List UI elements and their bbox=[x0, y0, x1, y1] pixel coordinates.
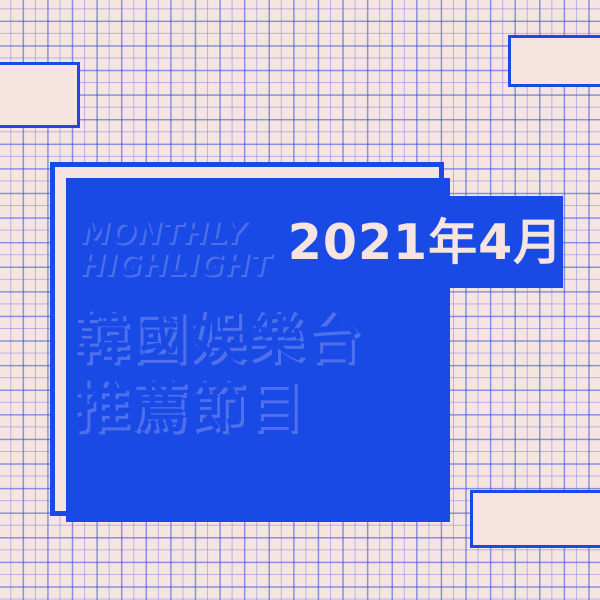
date-badge: 2021年4月 bbox=[288, 196, 563, 288]
decorative-rectangle-top-right bbox=[508, 35, 600, 87]
headline-line-1: 韓國娛樂台 bbox=[73, 304, 363, 373]
headline-line-2: 推薦節目 bbox=[73, 373, 363, 442]
date-badge-text: 2021年4月 bbox=[288, 218, 563, 267]
headline: 韓國娛樂台 推薦節目 bbox=[73, 304, 363, 443]
eyebrow-line-1: MONTHLY bbox=[80, 218, 271, 250]
eyebrow-line-2: HIGHLIGHT bbox=[80, 250, 271, 282]
decorative-rectangle-bottom-right bbox=[470, 490, 600, 548]
eyebrow-label: MONTHLY HIGHLIGHT bbox=[80, 218, 271, 283]
poster-canvas: MONTHLY HIGHLIGHT 2021年4月 韓國娛樂台 推薦節目 bbox=[0, 0, 600, 600]
decorative-rectangle-top-left bbox=[0, 62, 80, 128]
